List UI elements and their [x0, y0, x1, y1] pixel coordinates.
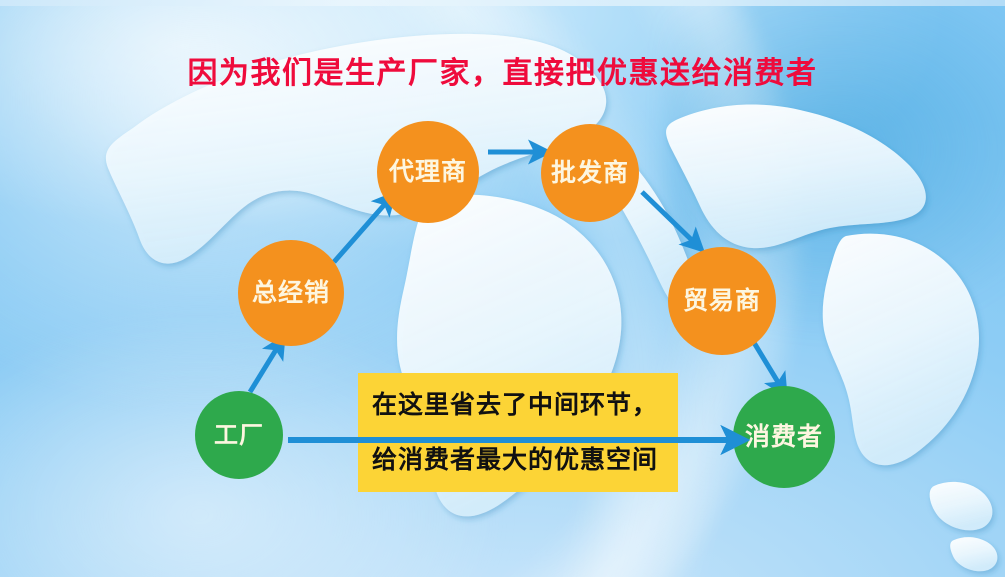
- node-consumer-label: 消费者: [745, 423, 823, 451]
- node-consumer[interactable]: 消费者: [733, 386, 835, 488]
- callout-line-1: 在这里省去了中间环节，: [372, 377, 664, 432]
- node-agent-label: 代理商: [389, 158, 467, 186]
- node-wholesaler-label: 批发商: [551, 159, 629, 187]
- node-factory[interactable]: 工厂: [195, 391, 283, 479]
- node-agent[interactable]: 代理商: [377, 121, 479, 223]
- callout-line-2: 给消费者最大的优惠空间: [372, 432, 664, 487]
- page-title: 因为我们是生产厂家，直接把优惠送给消费者: [0, 48, 1005, 92]
- node-trader[interactable]: 贸易商: [668, 247, 776, 355]
- node-wholesaler[interactable]: 批发商: [541, 124, 639, 222]
- slide-canvas: 工厂 总经销 代理商 批发商 贸易商 消费者 在这里省去了中间环节， 给消费者最…: [0, 0, 1005, 577]
- node-trader-label: 贸易商: [683, 287, 761, 315]
- savings-callout-box: 在这里省去了中间环节， 给消费者最大的优惠空间: [358, 373, 678, 492]
- node-factory-label: 工厂: [214, 422, 264, 448]
- node-distributor[interactable]: 总经销: [238, 240, 344, 346]
- node-distributor-label: 总经销: [252, 279, 330, 307]
